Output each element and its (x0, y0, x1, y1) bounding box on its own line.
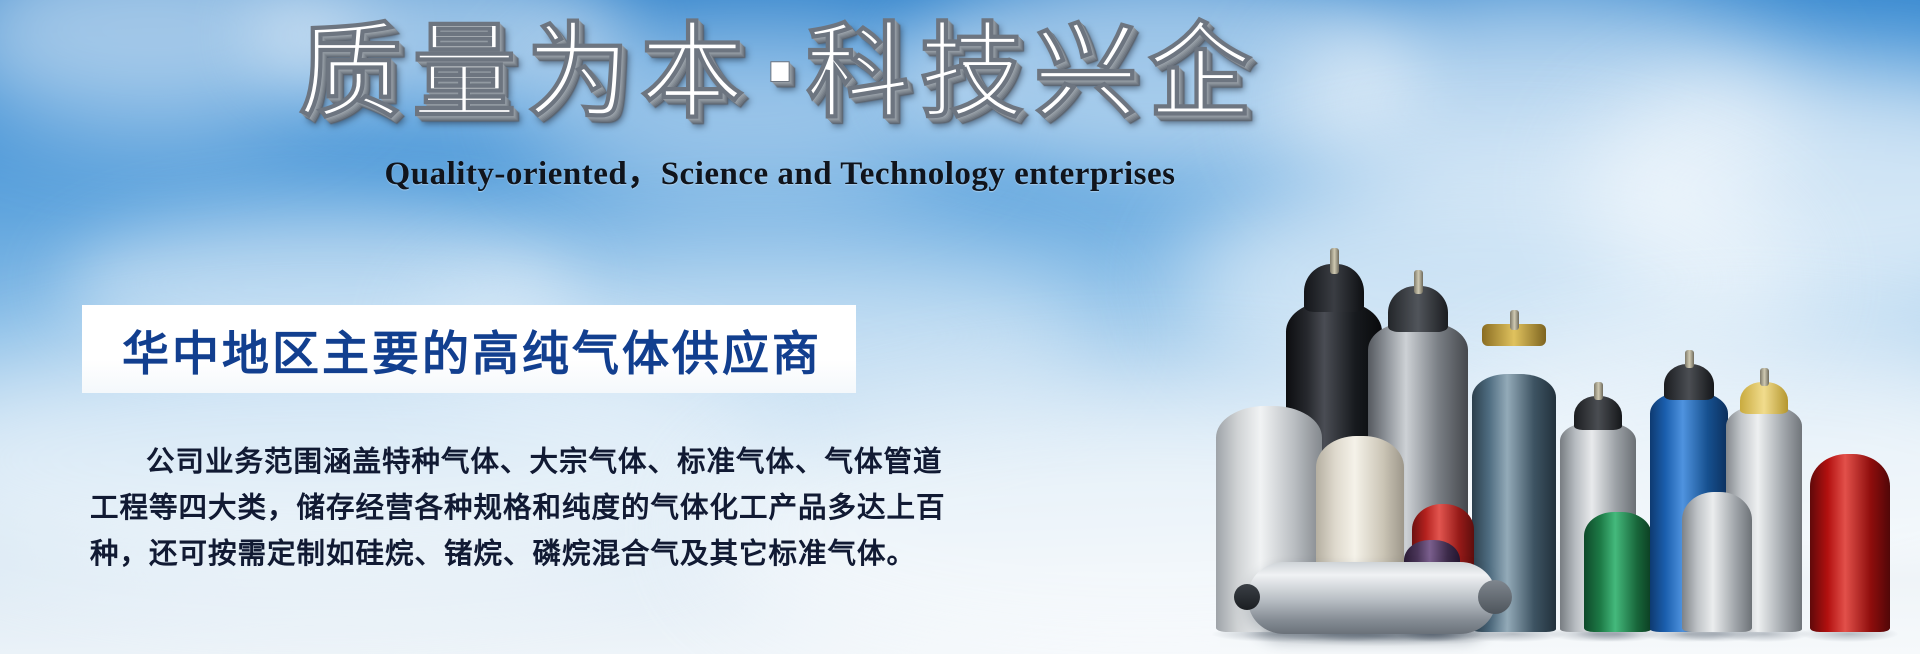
intro-paragraph: 公司业务范围涵盖特种气体、大宗气体、标准气体、气体管道 工程等四大类，储存经营各… (90, 440, 880, 578)
gas-cylinder-group-photo (1220, 234, 1920, 654)
slogan-box: 华中地区主要的高纯气体供应商 (82, 305, 856, 393)
cylinder-green-base (1584, 512, 1652, 632)
cylinder-silver-short (1682, 492, 1752, 632)
intro-line-2: 工程等四大类，储存经营各种规格和纯度的气体化工产品多达上百 (90, 486, 880, 532)
headline-right: 科技兴企 (806, 11, 1262, 133)
page-title: 质量为本·科技兴企 (298, 14, 1262, 130)
headline-separator: · (754, 11, 806, 133)
cylinder-nose (1478, 580, 1512, 614)
cylinder-red-large (1810, 454, 1890, 632)
cylinder-lying-grey (1248, 562, 1496, 634)
headline-wrap: 质量为本·科技兴企 (0, 14, 1560, 130)
headline-left: 质量为本 (298, 11, 754, 133)
slogan-text: 华中地区主要的高纯气体供应商 (82, 315, 822, 384)
subtitle: Quality-oriented，Science and Technology … (0, 146, 1560, 194)
promo-banner: 质量为本·科技兴企 Quality-oriented，Science and T… (0, 0, 1920, 654)
intro-line-3: 种，还可按需定制如硅烷、锗烷、磷烷混合气及其它标准气体。 (90, 532, 880, 578)
intro-line-1: 公司业务范围涵盖特种气体、大宗气体、标准气体、气体管道 (90, 440, 880, 486)
cylinder-tail-valve (1234, 584, 1260, 610)
